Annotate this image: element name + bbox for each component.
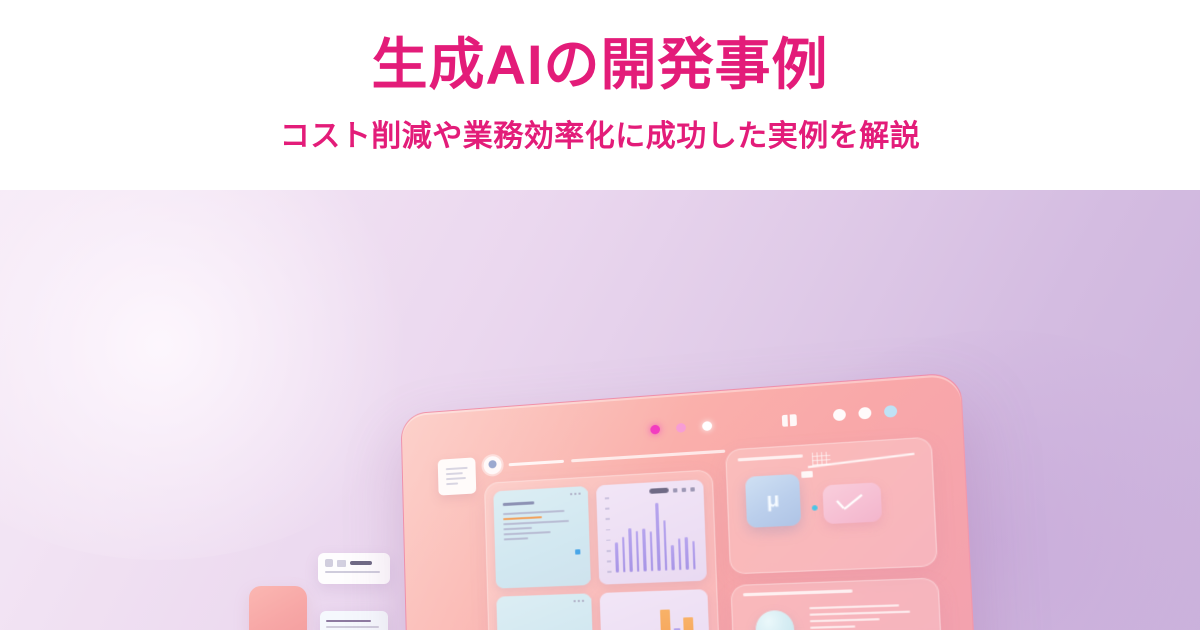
card-line — [504, 537, 528, 540]
card-heading — [503, 501, 534, 506]
window-dot-1-icon[interactable] — [833, 409, 846, 422]
bar-7 — [655, 503, 660, 571]
document-line — [446, 477, 466, 480]
avatar — [483, 456, 502, 475]
ogp-banner: 生成AIの開発事例 コスト削減や業務効率化に成功した実例を解説 — [0, 0, 1200, 630]
floating-card-top — [318, 553, 390, 584]
bar-2 — [622, 537, 626, 572]
search-input[interactable] — [571, 449, 725, 462]
panel-line — [810, 618, 880, 622]
bar-4 — [635, 531, 639, 572]
bar-10 — [678, 539, 682, 571]
card-line — [503, 527, 532, 530]
panel-body-text — [809, 604, 911, 630]
hero-glow-left — [0, 190, 440, 560]
chip-glyph-icon: μ — [766, 490, 780, 511]
play-pause-icon[interactable] — [782, 414, 797, 427]
lightbulb-icon — [755, 610, 796, 630]
card-line — [504, 531, 551, 535]
panel-heading — [738, 454, 803, 461]
document-icon — [438, 457, 477, 495]
chart-tool-icon[interactable] — [690, 487, 695, 491]
floating-card-row — [325, 559, 383, 567]
hero-illustration: μ — [0, 190, 1200, 630]
card-line-chart[interactable] — [496, 593, 594, 630]
bar-8 — [663, 521, 668, 571]
floating-card-line — [326, 626, 379, 628]
bar-9 — [671, 545, 675, 571]
card-line-highlight — [503, 516, 542, 520]
window-dot-2-icon[interactable] — [858, 407, 871, 420]
floating-card-tag — [350, 561, 372, 565]
bar-chart-bars — [613, 498, 695, 573]
tablet-frame: μ — [400, 372, 982, 630]
panel-line — [809, 604, 899, 609]
bar-3 — [628, 528, 632, 572]
bar-6 — [649, 531, 653, 571]
window-dot-3-icon[interactable] — [884, 405, 897, 418]
model-chip-card[interactable]: μ — [745, 474, 801, 528]
user-name-placeholder — [509, 459, 564, 466]
floating-card-line — [326, 620, 371, 622]
status-dot-white-icon — [702, 421, 712, 431]
status-square-icon — [575, 549, 580, 554]
chart-tool-icon[interactable] — [673, 488, 677, 492]
bar-5 — [642, 529, 646, 572]
bar-12 — [692, 541, 696, 570]
card-mini-bar-chart[interactable] — [600, 589, 711, 630]
chart-y-axis — [605, 497, 612, 573]
card-menu-icon[interactable] — [570, 493, 580, 496]
card-line — [503, 520, 569, 525]
document-line — [446, 482, 458, 485]
mini-bar — [660, 609, 671, 630]
tablet-device: μ — [400, 372, 982, 630]
badge-icon — [337, 560, 346, 567]
card-bar-chart[interactable] — [596, 479, 707, 584]
panel-heading — [743, 589, 853, 596]
header: 生成AIの開発事例 コスト削減や業務効率化に成功した実例を解説 — [0, 0, 1200, 190]
dashboard-panel-right-bottom — [730, 577, 944, 630]
bar-1 — [615, 543, 619, 573]
chart-tool-icon[interactable] — [682, 487, 687, 491]
bar-11 — [685, 537, 689, 570]
floating-card-bottom — [320, 611, 388, 630]
connector-node-icon — [801, 471, 813, 478]
page-title: 生成AIの開発事例 — [372, 34, 829, 97]
card-chat-summary[interactable] — [493, 486, 591, 589]
card-body — [503, 499, 576, 543]
card-line — [503, 510, 565, 515]
page-subtitle: コスト削減や業務効率化に成功した実例を解説 — [280, 119, 921, 155]
dashboard-panel-right-top: μ — [725, 437, 938, 575]
chart-label-pill — [649, 488, 669, 494]
swatch-salmon — [249, 586, 307, 630]
status-dot-cyan-icon — [812, 505, 818, 511]
chart-toolbar[interactable] — [649, 486, 695, 494]
floating-card-line — [325, 571, 380, 573]
status-dot-pink-icon — [676, 423, 686, 433]
checkmark-icon — [837, 496, 868, 513]
document-line — [446, 472, 463, 475]
card-menu-icon[interactable] — [574, 600, 585, 602]
lightbulb-glass — [755, 610, 795, 630]
dashboard-panel-left — [484, 469, 721, 630]
settings-icon — [325, 559, 333, 567]
status-dot-magenta-icon — [650, 425, 660, 435]
panel-line — [810, 625, 855, 628]
validation-card[interactable] — [822, 482, 882, 524]
panel-line — [810, 611, 911, 616]
mini-bar — [683, 617, 694, 630]
document-line — [446, 467, 468, 470]
